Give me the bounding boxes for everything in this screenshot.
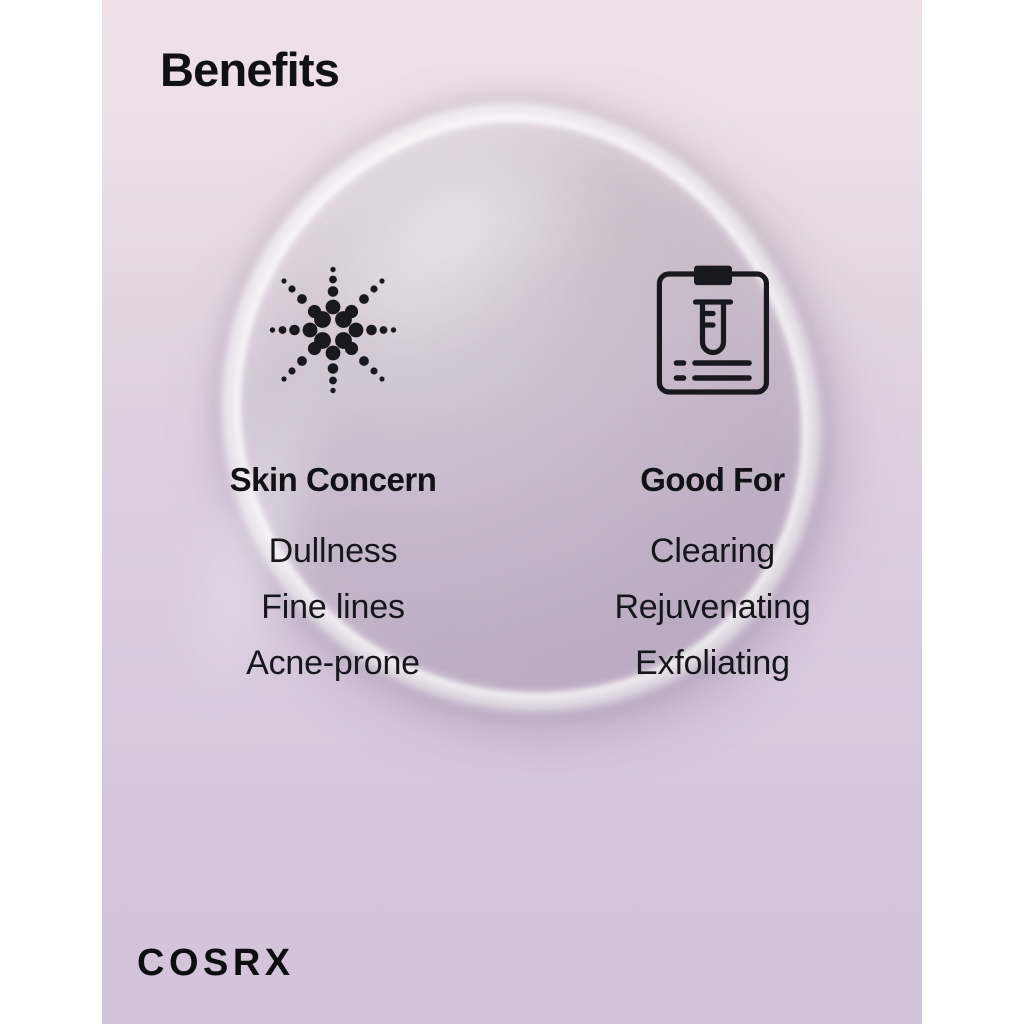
list-item: Exfoliating (575, 636, 850, 692)
column-heading: Skin Concern (183, 463, 483, 496)
product-benefits-graphic: Benefits (0, 0, 1024, 1024)
page-title: Benefits (160, 46, 339, 93)
content-layer: Benefits (0, 0, 1024, 1024)
column-heading: Good For (575, 463, 850, 496)
list-item: Fine lines (183, 580, 483, 636)
benefit-column-good-for: Good For Clearing Rejuvenating Exfoliati… (575, 255, 850, 691)
clipboard-test-tube-icon (575, 255, 850, 405)
sparkle-starburst-icon (183, 255, 483, 405)
brand-wordmark: COSRX (137, 944, 295, 982)
list-item: Clearing (575, 524, 850, 580)
benefit-list-good-for: Clearing Rejuvenating Exfoliating (575, 524, 850, 691)
benefit-column-skin-concern: Skin Concern Dullness Fine lines Acne-pr… (183, 255, 483, 691)
list-item: Acne-prone (183, 636, 483, 692)
benefit-list-skin-concern: Dullness Fine lines Acne-prone (183, 524, 483, 691)
list-item: Dullness (183, 524, 483, 580)
list-item: Rejuvenating (575, 580, 850, 636)
